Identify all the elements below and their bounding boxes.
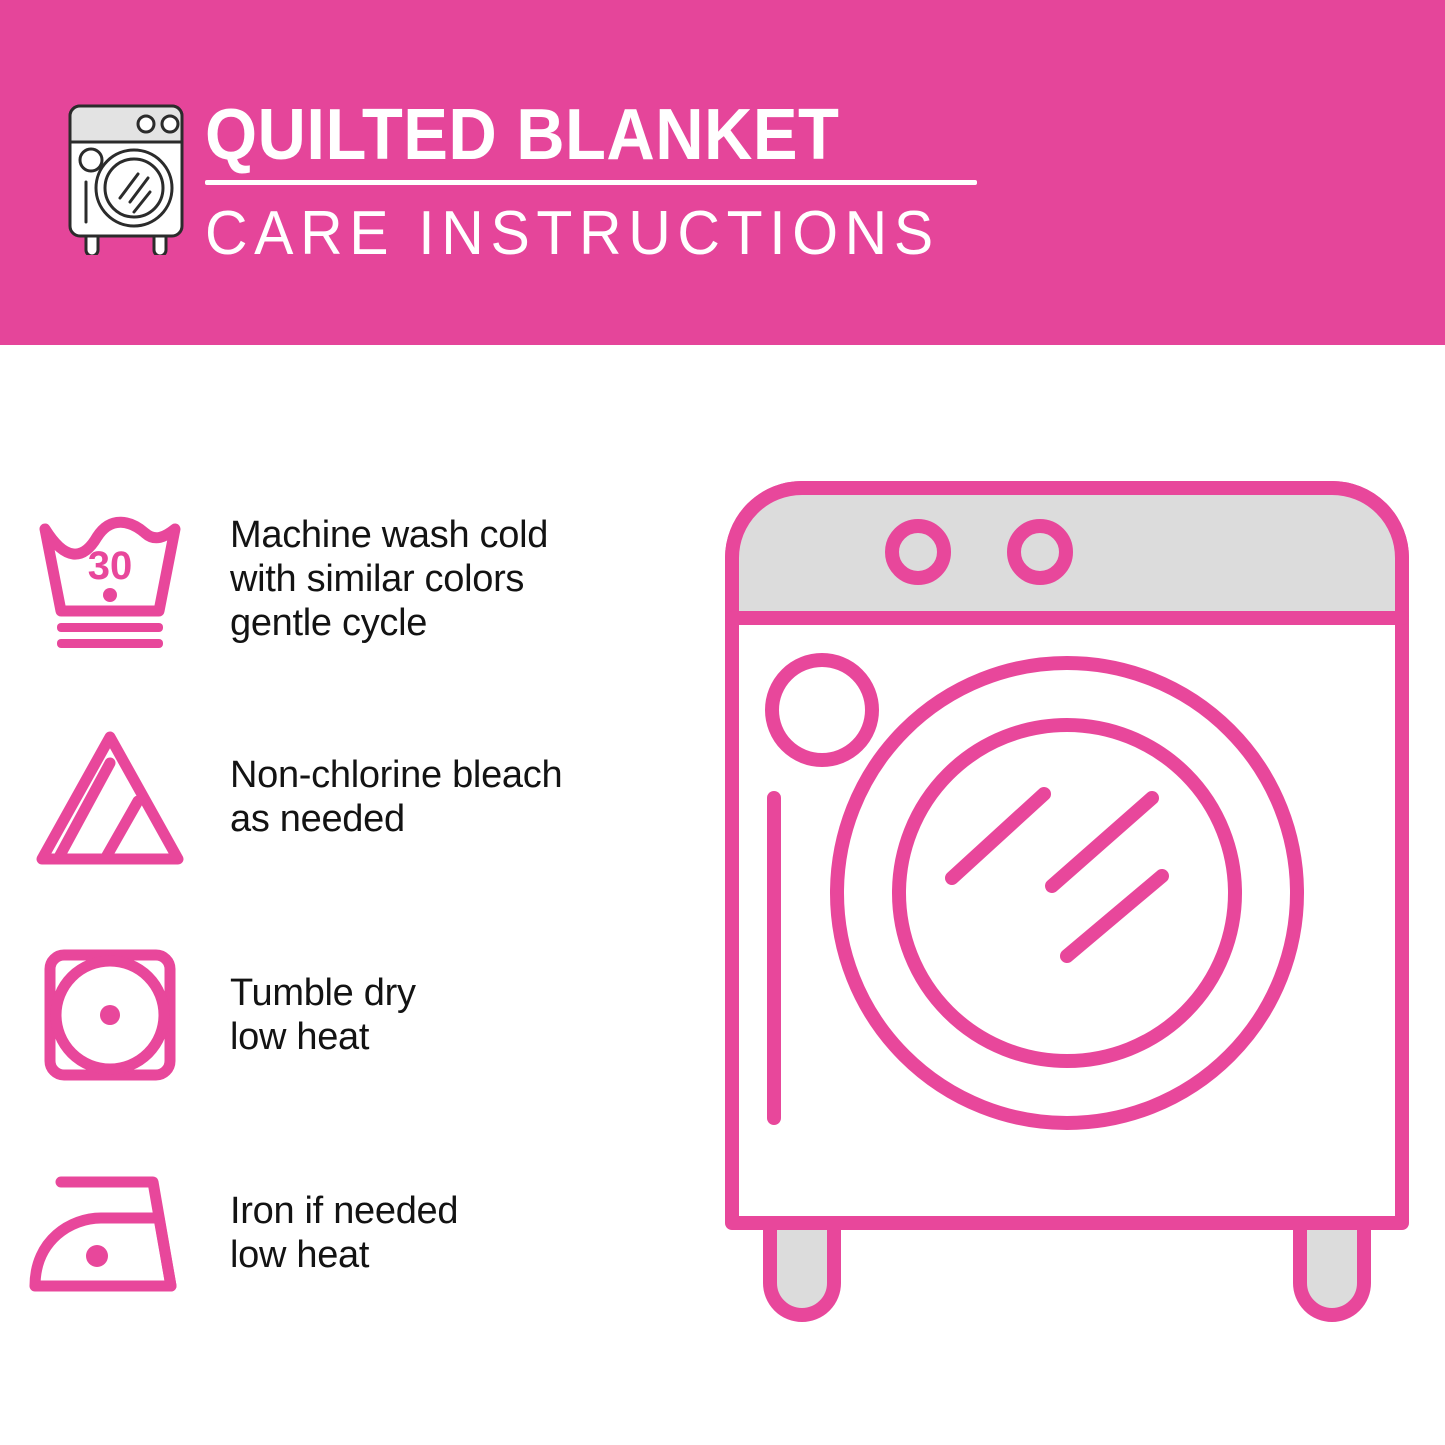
care-instructions-page: QUILTED BLANKET CARE INSTRUCTIONS 30 — [0, 0, 1445, 1445]
tumble-dry-low-icon — [0, 945, 220, 1085]
care-label-tumble-dry: Tumble dry low heat — [220, 971, 416, 1059]
knob-right — [1014, 526, 1066, 578]
wash-temperature-label: 30 — [88, 544, 133, 588]
care-label-iron: Iron if needed low heat — [220, 1189, 458, 1277]
iron-low-heat-icon — [0, 1168, 220, 1298]
care-row-bleach: Non-chlorine bleach as needed — [0, 688, 700, 906]
header-divider — [205, 180, 977, 185]
bleach-triangle-nonchlorine-icon — [0, 725, 220, 870]
page-subtitle: CARE INSTRUCTIONS — [205, 201, 956, 267]
indicator-circle — [772, 660, 872, 760]
header-banner: QUILTED BLANKET CARE INSTRUCTIONS — [0, 0, 1445, 345]
knob-left — [892, 526, 944, 578]
care-row-machine-wash: 30 Machine wash cold with similar colors… — [0, 470, 700, 688]
care-label-bleach: Non-chlorine bleach as needed — [220, 753, 562, 841]
care-row-iron: Iron if needed low heat — [0, 1124, 700, 1342]
door-inner-ring — [899, 725, 1235, 1061]
care-label-machine-wash: Machine wash cold with similar colors ge… — [220, 513, 548, 645]
foot-right — [1300, 1218, 1364, 1315]
care-instruction-list: 30 Machine wash cold with similar colors… — [0, 470, 700, 1342]
page-title: QUILTED BLANKET — [205, 96, 940, 174]
washing-machine-icon — [62, 100, 194, 255]
wash-tub-30-gentle-icon: 30 — [0, 507, 220, 652]
care-row-tumble-dry: Tumble dry low heat — [0, 906, 700, 1124]
foot-left — [770, 1218, 834, 1315]
header-text-block: QUILTED BLANKET CARE INSTRUCTIONS — [205, 96, 995, 267]
large-washing-machine-illustration — [722, 478, 1412, 1368]
